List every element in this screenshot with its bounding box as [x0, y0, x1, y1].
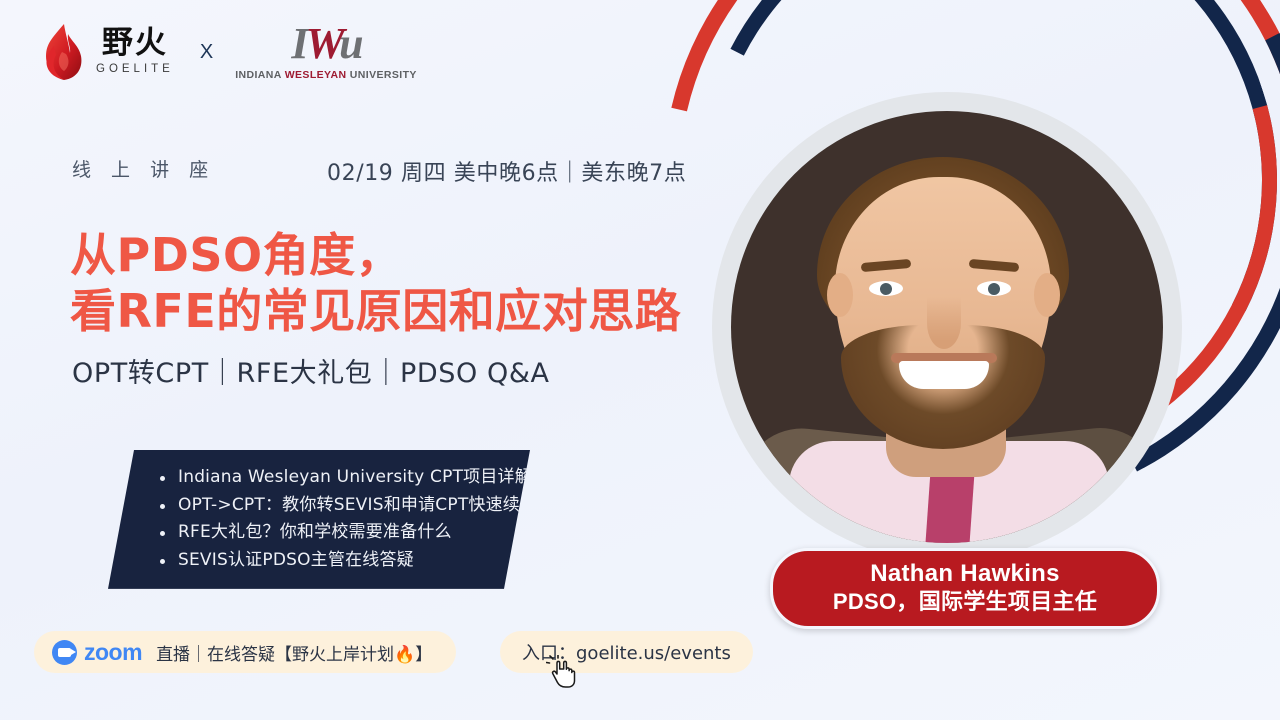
title-line-2: 看RFE的常见原因和应对思路 [70, 283, 681, 339]
speaker-portrait [731, 111, 1163, 543]
goelite-cn: 野火 [102, 28, 168, 59]
logo-header: 野火 GOELITE X IWu INDIANA WESLEYAN UNIVER… [38, 22, 417, 82]
list-item: RFE大礼包？你和学校需要准备什么 [160, 519, 490, 547]
eye-right [977, 281, 1011, 296]
page-title: 从PDSO角度， 看RFE的常见原因和应对思路 [70, 227, 681, 339]
event-type-label: 线 上 讲 座 [72, 155, 215, 182]
eye-left [869, 281, 903, 296]
title-line-1: 从PDSO角度， [70, 227, 681, 283]
goelite-en: GOELITE [96, 64, 174, 76]
ear-left [827, 273, 853, 317]
zoom-logo: zoom [52, 639, 142, 666]
iwu-letter-w: W [305, 19, 339, 68]
logo-separator: X [200, 41, 213, 64]
list-item: Indiana Wesleyan University CPT项目详解 [160, 464, 490, 492]
iwu-logo: IWu INDIANA WESLEYAN UNIVERSITY [235, 23, 417, 81]
speaker-name: Nathan Hawkins [791, 560, 1139, 588]
pointing-hand-cursor-icon [546, 655, 580, 691]
flame-icon [38, 22, 86, 82]
agenda-panel: Indiana Wesleyan University CPT项目详解 OPT-… [108, 450, 530, 589]
list-item: SEVIS认证PDSO主管在线答疑 [160, 547, 490, 575]
event-datetime: 02/19 周四 美中晚6点｜美东晚7点 [327, 155, 686, 187]
list-item: OPT->CPT：教你转SEVIS和申请CPT快速续命 [160, 492, 490, 520]
iwu-word-indiana: INDIANA [235, 69, 281, 81]
zoom-wordmark: zoom [84, 639, 142, 666]
video-camera-icon [52, 640, 77, 665]
iwu-word-wesleyan: WESLEYAN [285, 69, 347, 81]
page-subtitle: OPT转CPT｜RFE大礼包｜PDSO Q&A [72, 351, 550, 390]
iwu-letter-u: u [339, 19, 360, 68]
zoom-info-pill: zoom 直播｜在线答疑【野火上岸计划🔥】 [34, 631, 456, 673]
speaker-role: PDSO，国际学生项目主任 [791, 589, 1139, 615]
zoom-description: 直播｜在线答疑【野火上岸计划🔥】 [156, 640, 432, 665]
speaker-name-badge: Nathan Hawkins PDSO，国际学生项目主任 [770, 548, 1160, 629]
goelite-logo: 野火 GOELITE [38, 22, 174, 82]
agenda-list: Indiana Wesleyan University CPT项目详解 OPT-… [160, 464, 490, 575]
iwu-full-name: INDIANA WESLEYAN UNIVERSITY [235, 69, 417, 81]
iwu-monogram: IWu [291, 23, 360, 65]
webinar-poster: Nathan Hawkins PDSO，国际学生项目主任 [0, 0, 1280, 720]
nose [927, 297, 961, 349]
goelite-wordmark: 野火 GOELITE [96, 28, 174, 76]
ear-right [1034, 273, 1060, 317]
iwu-word-university: UNIVERSITY [350, 69, 417, 81]
mouth [899, 361, 989, 389]
entry-link-pill[interactable]: 入口：goelite.us/events [500, 631, 753, 673]
portrait-illustration [731, 111, 1163, 543]
iwu-letter-i: I [291, 19, 305, 68]
